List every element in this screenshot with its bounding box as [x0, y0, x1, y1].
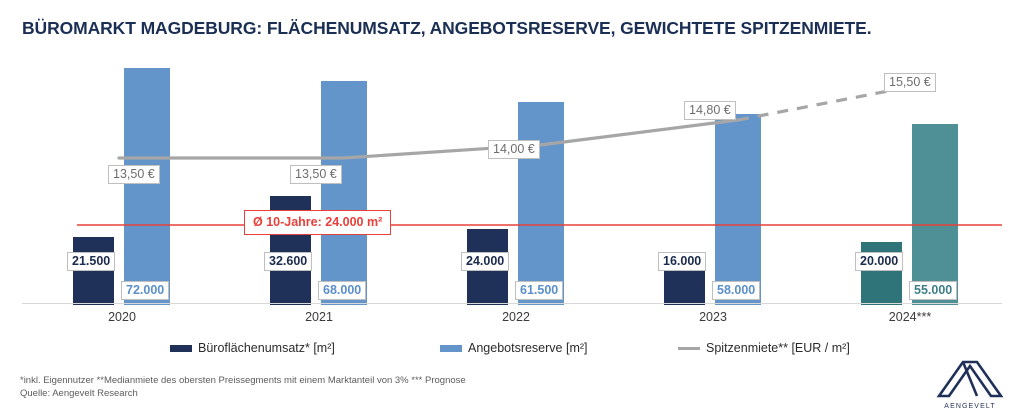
- bar-label-reserve-2020: 72.000: [121, 281, 169, 300]
- average-annotation-box: Ø 10-Jahre: 24.000 m²: [244, 210, 391, 235]
- x-axis-line: [22, 303, 1002, 304]
- line-label-2023: 14,80 €: [684, 101, 736, 120]
- footnotes: *inkl. Eigennutzer **Medianmiete des obe…: [20, 374, 466, 400]
- line-label-2024: 15,50 €: [884, 73, 936, 92]
- plot-area: Ø 10-Jahre: 24.000 m² 13,50 € 13,50 € 14…: [22, 55, 1002, 305]
- legend-swatch-reserve-icon: [440, 345, 462, 352]
- legend-item-umsatz: Büroflächenumsatz* [m²]: [170, 341, 335, 355]
- aengevelt-logo: AENGEVELT: [933, 358, 1007, 410]
- bar-label-reserve-2024: 55.000: [909, 281, 957, 300]
- chart-container: BÜROMARKT MAGDEBURG: FLÄCHENUMSATZ, ANGE…: [0, 0, 1023, 419]
- x-tick-2023: 2023: [653, 310, 773, 324]
- legend-label-reserve: Angebotsreserve [m²]: [468, 341, 588, 355]
- legend-item-spitzenmiete: Spitzenmiete** [EUR / m²]: [678, 341, 850, 355]
- bar-label-umsatz-2020: 21.500: [67, 252, 115, 271]
- legend-swatch-umsatz-icon: [170, 345, 192, 352]
- bar-label-reserve-2022: 61.500: [515, 281, 563, 300]
- bar-label-umsatz-2021: 32.600: [264, 252, 312, 271]
- line-label-2022: 14,00 €: [488, 140, 540, 159]
- bar-label-umsatz-2024: 20.000: [855, 252, 903, 271]
- x-tick-2022: 2022: [456, 310, 576, 324]
- line-label-2021: 13,50 €: [290, 165, 342, 184]
- bar-label-reserve-2023: 58.000: [712, 281, 760, 300]
- legend-swatch-spitzenmiete-icon: [678, 347, 700, 350]
- aengevelt-logo-text: AENGEVELT: [933, 403, 1007, 410]
- page-title: BÜROMARKT MAGDEBURG: FLÄCHENUMSATZ, ANGE…: [22, 18, 872, 39]
- footnote-line-1: *inkl. Eigennutzer **Medianmiete des obe…: [20, 374, 466, 387]
- bar-label-umsatz-2022: 24.000: [461, 252, 509, 271]
- x-tick-2024: 2024***: [850, 310, 970, 324]
- footnote-line-2: Quelle: Aengevelt Research: [20, 387, 466, 400]
- legend-label-spitzenmiete: Spitzenmiete** [EUR / m²]: [706, 341, 850, 355]
- chart-legend: Büroflächenumsatz* [m²] Angebotsreserve …: [0, 341, 1023, 361]
- bar-label-umsatz-2023: 16.000: [658, 252, 706, 271]
- line-label-2020: 13,50 €: [108, 165, 160, 184]
- aengevelt-mark-icon: [933, 358, 1007, 400]
- x-tick-2020: 2020: [62, 310, 182, 324]
- legend-label-umsatz: Büroflächenumsatz* [m²]: [198, 341, 335, 355]
- legend-item-reserve: Angebotsreserve [m²]: [440, 341, 588, 355]
- bar-label-reserve-2021: 68.000: [318, 281, 366, 300]
- x-tick-2021: 2021: [259, 310, 379, 324]
